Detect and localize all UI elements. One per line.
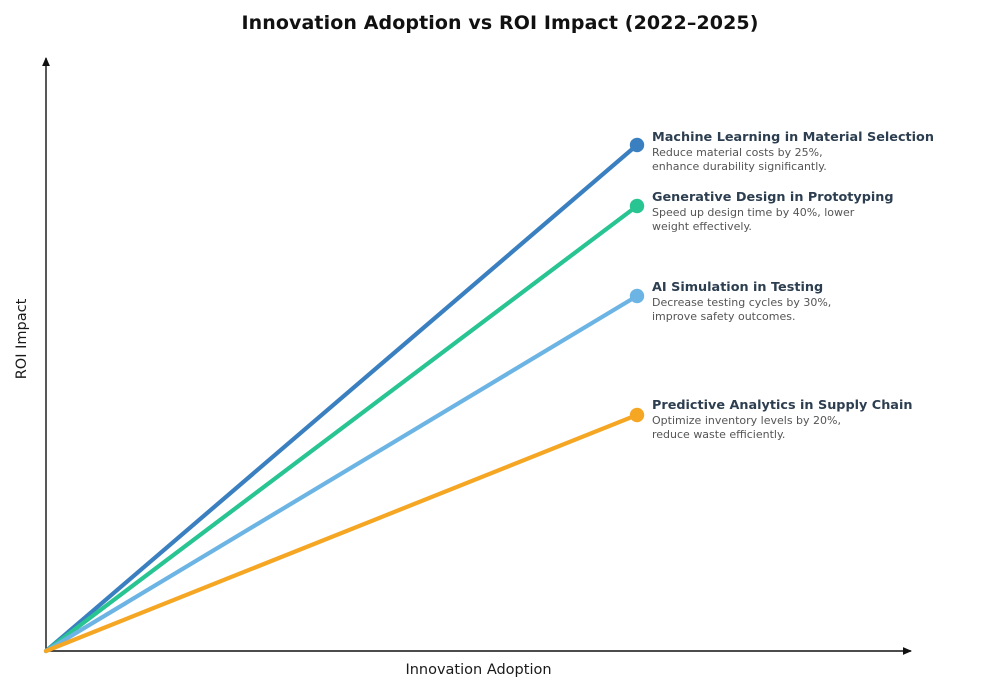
series-marker-group xyxy=(630,138,644,422)
series-line-generative-design-in-prototyping xyxy=(46,206,637,651)
annotation-description: Decrease testing cycles by 30%, improve … xyxy=(652,296,992,324)
data-point-generative-design-in-prototyping[interactable] xyxy=(630,199,644,213)
annotation-title: Generative Design in Prototyping xyxy=(652,190,992,205)
data-point-machine-learning-in-material-selection[interactable] xyxy=(630,138,644,152)
data-point-predictive-analytics-in-supply-chain[interactable] xyxy=(630,408,644,422)
x-axis-label: Innovation Adoption xyxy=(46,662,911,678)
annotation-generative-design-in-prototyping: Generative Design in Prototyping Speed u… xyxy=(652,190,992,234)
series-line-predictive-analytics-in-supply-chain xyxy=(46,415,637,651)
series-line-ai-simulation-in-testing xyxy=(46,296,637,651)
annotation-title: Machine Learning in Material Selection xyxy=(652,130,992,145)
y-axis-label: ROI Impact xyxy=(14,274,30,404)
series-line-machine-learning-in-material-selection xyxy=(46,145,637,651)
annotation-predictive-analytics-in-supply-chain: Predictive Analytics in Supply Chain Opt… xyxy=(652,398,992,442)
annotation-title: Predictive Analytics in Supply Chain xyxy=(652,398,992,413)
annotation-title: AI Simulation in Testing xyxy=(652,280,992,295)
annotation-description: Reduce material costs by 25%, enhance du… xyxy=(652,146,992,174)
plot-area xyxy=(0,0,1000,700)
annotation-description: Optimize inventory levels by 20%, reduce… xyxy=(652,414,992,442)
series-line-group xyxy=(46,145,637,651)
annotation-description: Speed up design time by 40%, lower weigh… xyxy=(652,206,992,234)
annotation-machine-learning-in-material-selection: Machine Learning in Material Selection R… xyxy=(652,130,992,174)
data-point-ai-simulation-in-testing[interactable] xyxy=(630,289,644,303)
chart-figure: Innovation Adoption vs ROI Impact (2022–… xyxy=(0,0,1000,700)
annotation-ai-simulation-in-testing: AI Simulation in Testing Decrease testin… xyxy=(652,280,992,324)
